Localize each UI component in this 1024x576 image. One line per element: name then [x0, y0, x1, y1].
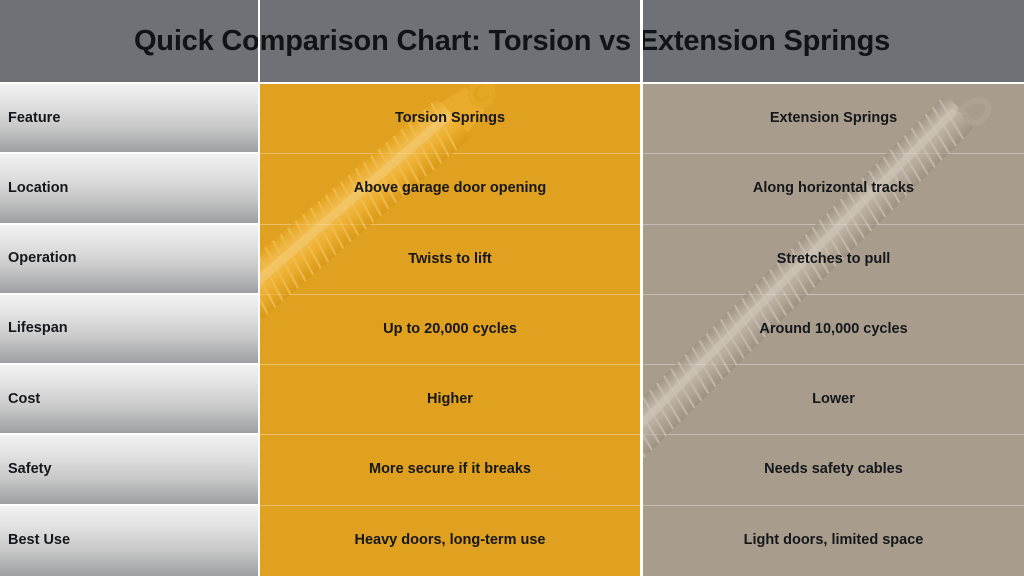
- torsion-value: More secure if it breaks: [359, 461, 541, 478]
- header-label-torsion: Torsion Springs: [385, 110, 515, 127]
- cell-extension-safety: Needs safety cables: [643, 435, 1024, 505]
- cell-torsion-lifespan: Up to 20,000 cycles: [260, 295, 640, 365]
- cell-feature-lifespan: Lifespan: [0, 295, 258, 365]
- table-row: Best Use Heavy doors, long-term use Ligh…: [0, 506, 1024, 576]
- table-header-row: Feature Torsion Springs Extension Spring…: [0, 84, 1024, 154]
- comparison-table: Feature Torsion Springs Extension Spring…: [0, 84, 1024, 576]
- header-label-feature: Feature: [8, 110, 60, 127]
- torsion-value: Above garage door opening: [344, 180, 557, 197]
- table-row: Operation Twists to lift Stretches to pu…: [0, 225, 1024, 295]
- table-row: Lifespan Up to 20,000 cycles Around 10,0…: [0, 295, 1024, 365]
- cell-torsion-location: Above garage door opening: [260, 154, 640, 224]
- cell-feature-safety: Safety: [0, 435, 258, 505]
- comparison-chart-page: Quick Comparison Chart: Torsion vs Exten…: [0, 0, 1024, 576]
- cell-torsion-operation: Twists to lift: [260, 225, 640, 295]
- cell-extension-cost: Lower: [643, 365, 1024, 435]
- header-cell-torsion: Torsion Springs: [260, 84, 640, 154]
- extension-value: Needs safety cables: [754, 461, 913, 478]
- extension-value: Along horizontal tracks: [743, 180, 924, 197]
- cell-extension-lifespan: Around 10,000 cycles: [643, 295, 1024, 365]
- feature-label: Cost: [8, 391, 40, 408]
- torsion-value: Heavy doors, long-term use: [345, 532, 556, 549]
- table-row: Safety More secure if it breaks Needs sa…: [0, 435, 1024, 505]
- feature-label: Operation: [8, 250, 76, 267]
- feature-label: Lifespan: [8, 320, 68, 337]
- extension-value: Around 10,000 cycles: [749, 321, 917, 338]
- feature-label: Best Use: [8, 532, 70, 549]
- cell-feature-best-use: Best Use: [0, 506, 258, 576]
- torsion-value: Up to 20,000 cycles: [373, 321, 527, 338]
- torsion-value: Twists to lift: [398, 251, 502, 268]
- chart-title-bar: Quick Comparison Chart: Torsion vs Exten…: [0, 0, 1024, 82]
- feature-label: Location: [8, 180, 68, 197]
- table-row: Cost Higher Lower: [0, 365, 1024, 435]
- cell-torsion-safety: More secure if it breaks: [260, 435, 640, 505]
- header-label-extension: Extension Springs: [760, 110, 907, 127]
- cell-feature-location: Location: [0, 154, 258, 224]
- cell-extension-location: Along horizontal tracks: [643, 154, 1024, 224]
- extension-value: Lower: [802, 391, 865, 408]
- page-title: Quick Comparison Chart: Torsion vs Exten…: [134, 25, 890, 58]
- table-row: Location Above garage door opening Along…: [0, 154, 1024, 224]
- cell-torsion-cost: Higher: [260, 365, 640, 435]
- cell-feature-cost: Cost: [0, 365, 258, 435]
- cell-feature-operation: Operation: [0, 225, 258, 295]
- torsion-value: Higher: [417, 391, 483, 408]
- extension-value: Light doors, limited space: [734, 532, 934, 549]
- feature-label: Safety: [8, 461, 52, 478]
- header-cell-feature: Feature: [0, 84, 258, 154]
- cell-torsion-best-use: Heavy doors, long-term use: [260, 506, 640, 576]
- header-cell-extension: Extension Springs: [643, 84, 1024, 154]
- cell-extension-operation: Stretches to pull: [643, 225, 1024, 295]
- extension-value: Stretches to pull: [767, 251, 901, 268]
- cell-extension-best-use: Light doors, limited space: [643, 506, 1024, 576]
